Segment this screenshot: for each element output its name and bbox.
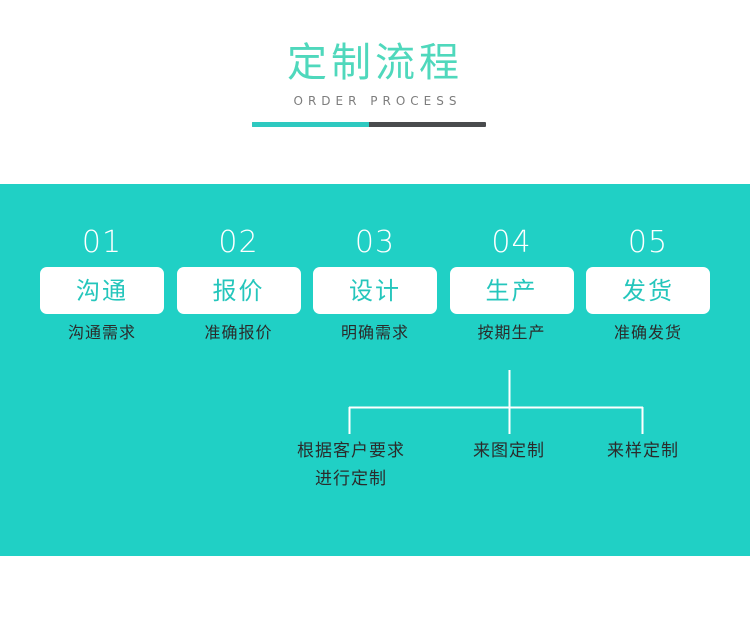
step-card[interactable]: 沟通 (40, 267, 164, 314)
step-number: 01 (82, 226, 122, 260)
process-step-01[interactable]: 01 沟通 沟通需求 (40, 226, 164, 343)
title-underline-accent (252, 122, 369, 127)
customization-option-1[interactable]: 来图定制 (449, 437, 569, 465)
process-step-04[interactable]: 04 生产 按期生产 (450, 226, 574, 343)
step-description: 沟通需求 (68, 323, 136, 343)
title-underline-bar (252, 122, 486, 127)
process-step-03[interactable]: 03 设计 明确需求 (313, 226, 437, 343)
step-card-label: 报价 (213, 278, 265, 304)
option-label-line1: 来样定制 (607, 441, 679, 461)
customization-option-0[interactable]: 根据客户要求 进行定制 (261, 437, 441, 493)
page-header: 定制流程 ORDER PROCESS (0, 0, 750, 184)
step-number: 02 (218, 226, 258, 260)
process-step-list: 01 沟通 沟通需求 02 报价 准确报价 03 设计 明确需求 04 生产 (40, 226, 710, 356)
step-card[interactable]: 生产 (450, 267, 574, 314)
page-title: 定制流程 (0, 39, 750, 87)
customization-option-list: 根据客户要求 进行定制 来图定制 来样定制 (0, 437, 750, 527)
step-card[interactable]: 报价 (177, 267, 301, 314)
process-step-02[interactable]: 02 报价 准确报价 (177, 226, 301, 343)
step-number: 04 (491, 226, 531, 260)
step-description: 按期生产 (477, 323, 545, 343)
process-panel: 01 沟通 沟通需求 02 报价 准确报价 03 设计 明确需求 04 生产 (0, 184, 750, 556)
step-card-label: 沟通 (76, 278, 128, 304)
step-card[interactable]: 设计 (313, 267, 437, 314)
step-description: 明确需求 (341, 323, 409, 343)
step-card[interactable]: 发货 (586, 267, 710, 314)
option-label-line1: 来图定制 (473, 441, 545, 461)
option-label-line1: 根据客户要求 (297, 441, 405, 461)
step-card-label: 生产 (486, 278, 538, 304)
page-subtitle: ORDER PROCESS (0, 93, 750, 109)
customization-option-2[interactable]: 来样定制 (583, 437, 703, 465)
step-card-label: 发货 (622, 278, 674, 304)
step-description: 准确发货 (614, 323, 682, 343)
option-label-line2: 进行定制 (261, 465, 441, 493)
step-card-label: 设计 (349, 278, 401, 304)
step-number: 05 (628, 226, 668, 260)
step-description: 准确报价 (204, 323, 272, 343)
footer-spacer (0, 556, 750, 632)
step-number: 03 (355, 226, 395, 260)
process-step-05[interactable]: 05 发货 准确发货 (586, 226, 710, 343)
